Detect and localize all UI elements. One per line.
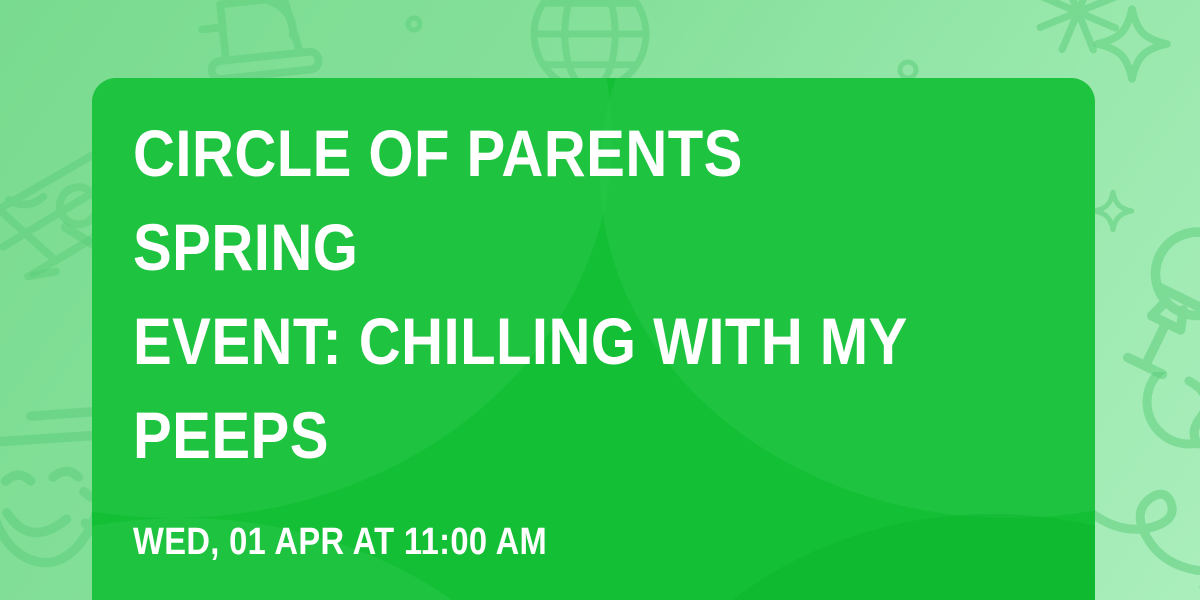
sparkle-icon bbox=[1092, 4, 1172, 84]
sparkle-icon bbox=[1090, 188, 1136, 234]
card-content: Circle of Parents Spring Event: Chilling… bbox=[133, 78, 1065, 562]
event-card[interactable]: Circle of Parents Spring Event: Chilling… bbox=[92, 78, 1095, 600]
event-poster: Circle of Parents Spring Event: Chilling… bbox=[0, 0, 1200, 600]
event-title: Circle of Parents Spring Event: Chilling… bbox=[133, 78, 953, 482]
microphone-icon bbox=[1093, 204, 1200, 404]
confetti-circle-icon bbox=[404, 14, 424, 34]
confetti-dash-icon bbox=[23, 267, 60, 282]
star-burst-icon bbox=[1016, 0, 1141, 74]
event-datetime: Wed, 01 Apr at 11:00 AM bbox=[133, 482, 935, 562]
ribbon-swirl-icon bbox=[1102, 372, 1200, 522]
